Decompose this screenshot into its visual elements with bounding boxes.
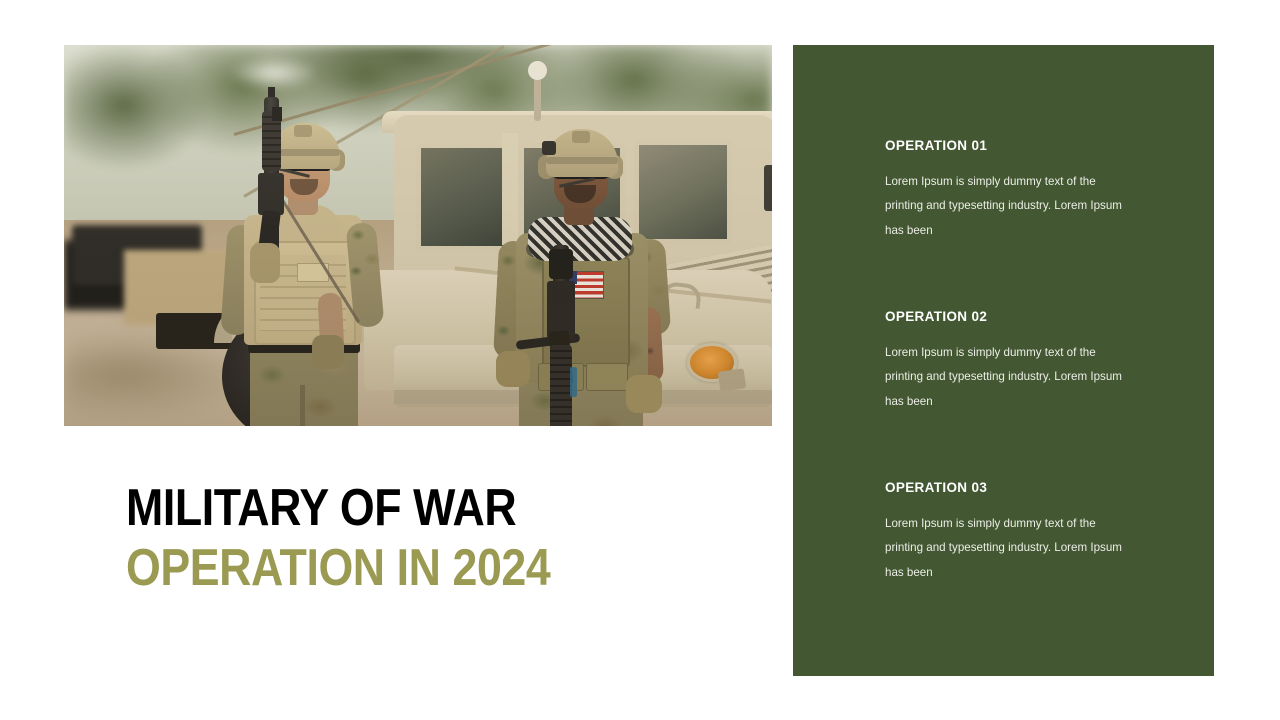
humvee-bumper-damage xyxy=(718,368,747,391)
hero-photo xyxy=(64,45,772,426)
page-title: MILITARY OF WAR OPERATION IN 2024 xyxy=(126,478,619,598)
soldier-right-glove-right xyxy=(626,375,662,413)
title-line-accent: OPERATION IN 2024 xyxy=(126,538,550,598)
operation-body: Lorem Ipsum is simply dummy text of the … xyxy=(885,341,1125,414)
soldier-right-rifle-accent xyxy=(570,367,577,397)
soldier-right-helmet-nvg-mount xyxy=(572,131,590,143)
operation-heading: OPERATION 03 xyxy=(885,480,1135,495)
humvee-window-right xyxy=(634,140,732,244)
presentation-slide: MILITARY OF WAR OPERATION IN 2024 OPERAT… xyxy=(0,0,1280,720)
soldier-right-helmet-rail xyxy=(546,157,618,164)
humvee-door-post xyxy=(502,133,518,245)
soldier-right-pouch-right xyxy=(586,363,628,391)
operation-body: Lorem Ipsum is simply dummy text of the … xyxy=(885,170,1125,243)
operation-block: OPERATION 03 Lorem Ipsum is simply dummy… xyxy=(885,480,1135,585)
soldier-left-rifle-front-sight xyxy=(272,107,282,121)
operations-panel: OPERATION 01 Lorem Ipsum is simply dummy… xyxy=(793,45,1214,676)
humvee-antenna-tip xyxy=(528,61,547,80)
soldier-left-rifle-receiver xyxy=(258,173,284,215)
soldier-left-glove-upper xyxy=(250,243,280,283)
soldier-left-glove-lower xyxy=(312,335,344,369)
operation-heading: OPERATION 02 xyxy=(885,309,1135,324)
operation-block: OPERATION 01 Lorem Ipsum is simply dummy… xyxy=(885,138,1135,243)
soldier-left-helmet-nvg-mount xyxy=(294,125,312,137)
operation-body: Lorem Ipsum is simply dummy text of the … xyxy=(885,512,1125,585)
humvee-window-left xyxy=(416,143,510,251)
operation-block: OPERATION 02 Lorem Ipsum is simply dummy… xyxy=(885,309,1135,414)
humvee-mirror xyxy=(764,165,772,211)
soldier-right-helmet-camera-icon xyxy=(542,141,556,155)
soldier-right-glove-left xyxy=(496,351,530,387)
soldier-left-camo-sleeve xyxy=(348,221,382,283)
soldier-right-rifle-optic xyxy=(549,249,573,279)
title-line-primary: MILITARY OF WAR xyxy=(126,478,550,538)
operation-heading: OPERATION 01 xyxy=(885,138,1135,153)
soldier-left-leg-seam xyxy=(300,385,305,426)
soldier-right-rifle-handguard xyxy=(550,345,572,426)
